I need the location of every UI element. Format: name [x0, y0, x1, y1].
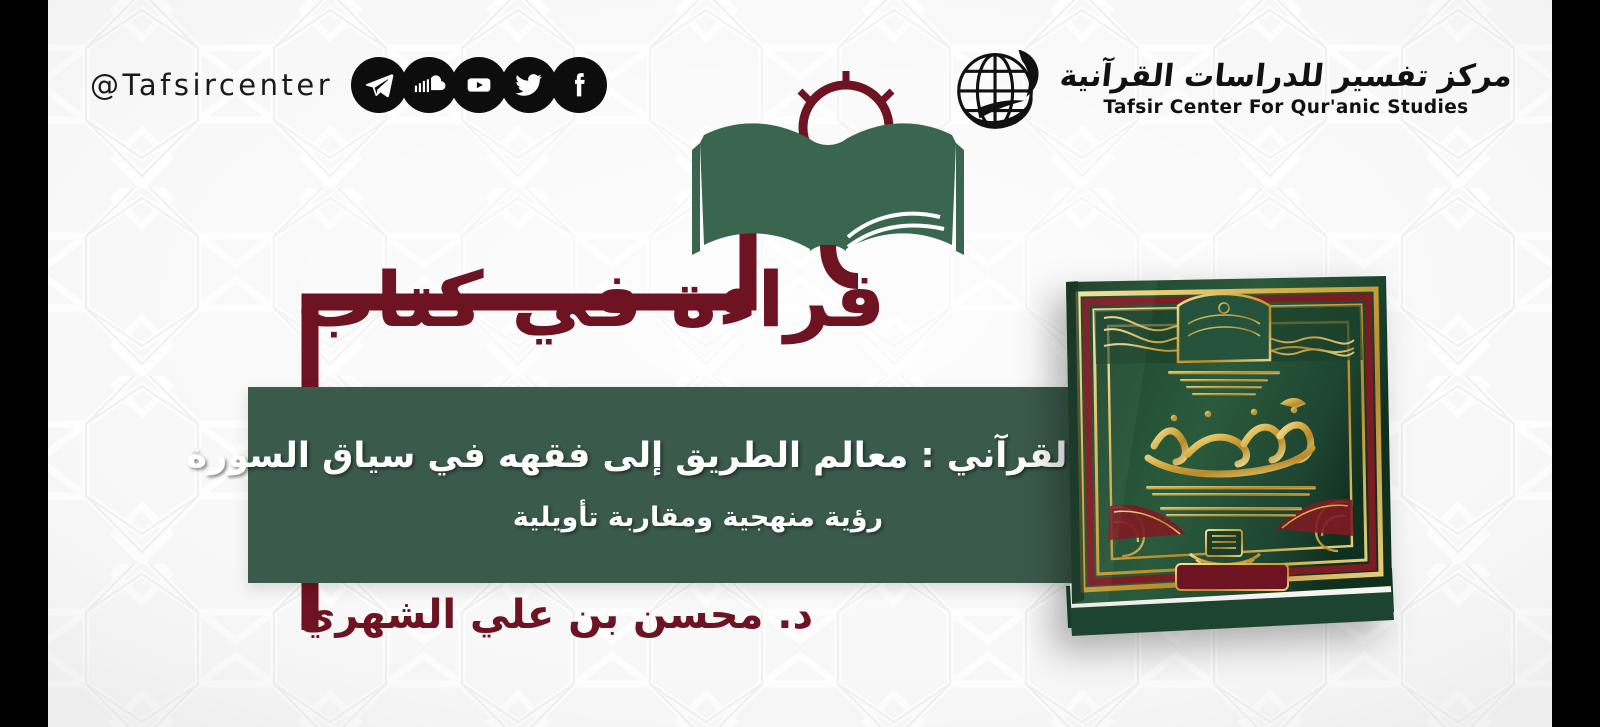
brand-name-english: Tafsir Center For Qur'anic Studies: [1103, 97, 1468, 118]
letterbox-right: [1552, 0, 1600, 727]
social-handle-text: @Tafsircenter: [90, 68, 333, 102]
letterbox-left: [0, 0, 48, 727]
series-title: قراءة في كتاب: [303, 262, 885, 338]
brand-text-block: مركز تفسير للدراسات القرآنية Tafsir Cent…: [1060, 60, 1512, 119]
lecture-title-banner: المعنى القرآني : معالم الطريق إلى فقهه ف…: [248, 387, 1148, 583]
youtube-icon[interactable]: [451, 57, 507, 113]
facebook-icon[interactable]: [551, 57, 607, 113]
author-name: د. محسن بن علي الشهري: [253, 592, 813, 638]
book-cover-image: [1048, 268, 1398, 650]
twitter-icon[interactable]: [501, 57, 557, 113]
tafsir-center-brand-lockup: مركز تفسير للدراسات القرآنية Tafsir Cent…: [948, 40, 1512, 138]
lecture-subtitle: رؤية منهجية ومقاربة تأويلية: [513, 500, 883, 535]
brand-name-arabic: مركز تفسير للدراسات القرآنية: [1058, 59, 1514, 94]
banner-canvas: @Tafsircenter مركز تفسير للدراسات القرآن…: [48, 0, 1552, 727]
globe-tafsir-icon: [948, 40, 1046, 138]
telegram-icon[interactable]: [351, 57, 407, 113]
banner-stage: @Tafsircenter مركز تفسير للدراسات القرآن…: [0, 0, 1600, 727]
soundcloud-icon[interactable]: [401, 57, 457, 113]
social-links-row: @Tafsircenter: [90, 57, 601, 113]
